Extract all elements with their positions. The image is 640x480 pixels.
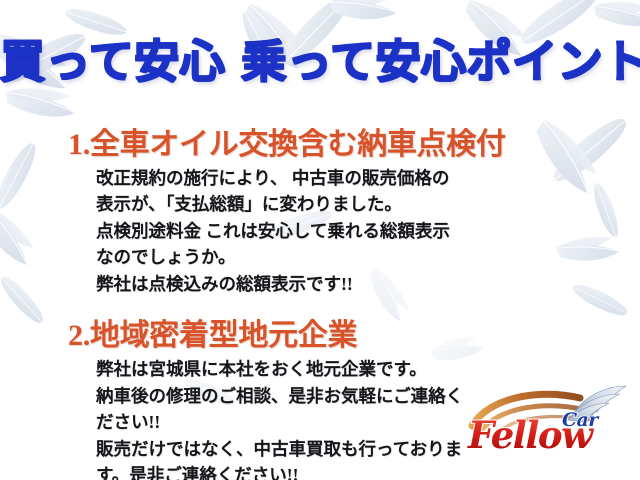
logo-brand-name: Fellow bbox=[467, 413, 594, 457]
section-1-line-2: 表示が、「支払総額」に変わりました。 bbox=[96, 191, 618, 218]
promo-banner: 買って安心 乗って安心ポイント 1.全車オイル交換含む納車点検付 改正規約の施行… bbox=[0, 0, 640, 480]
section-1-line-3: 点検別途料金 これは安心して乗れる総額表示 bbox=[96, 218, 618, 245]
section-1-body: 改正規約の施行により、 中古車の販売価格の 表示が、「支払総額」に変わりました。… bbox=[0, 165, 640, 298]
section-2-heading: 2.地域密着型地元企業 bbox=[0, 319, 640, 354]
headline-text: 買って安心 乗って安心ポイント bbox=[0, 38, 640, 85]
section-1-heading: 1.全車オイル交換含む納車点検付 bbox=[0, 128, 640, 163]
section-1-line-5: 弊社は点検込みの総額表示です!! bbox=[96, 271, 618, 298]
section-2-line-5: す。是非ご連絡ください!! bbox=[96, 462, 618, 480]
point-section-1: 1.全車オイル交換含む納車点検付 改正規約の施行により、 中古車の販売価格の 表… bbox=[0, 128, 640, 297]
car-fellow-logo: Car Fellow bbox=[464, 382, 636, 460]
section-2-line-1: 弊社は宮城県に本社をおく地元企業です。 bbox=[96, 356, 618, 383]
section-1-line-1: 改正規約の施行により、 中古車の販売価格の bbox=[96, 165, 618, 192]
headline: 買って安心 乗って安心ポイント bbox=[0, 38, 640, 85]
section-1-line-4: なのでしょうか。 bbox=[96, 244, 618, 271]
